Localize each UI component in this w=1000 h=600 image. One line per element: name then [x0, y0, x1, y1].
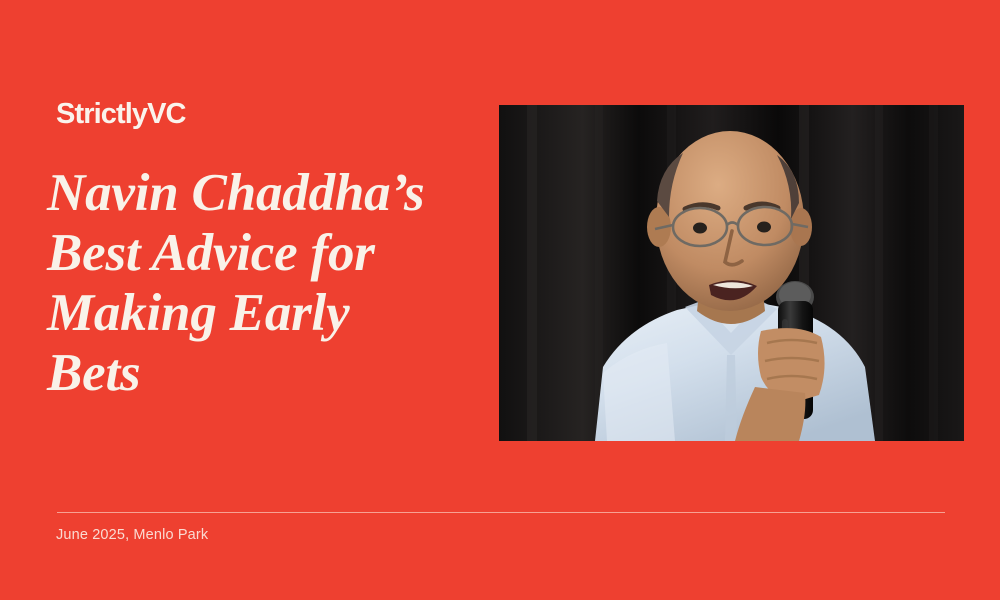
event-title-card: StrictlyVC Navin Chaddha’s Best Advice f… — [0, 0, 1000, 600]
event-meta: June 2025, Menlo Park — [56, 525, 208, 545]
page-title: Navin Chaddha’s Best Advice for Making E… — [47, 163, 477, 403]
eye-right — [757, 222, 771, 233]
headline-line-1: Navin Chaddha’s — [47, 163, 477, 223]
shirt-placket — [725, 355, 737, 441]
headline-line-3: Making Early — [47, 283, 477, 343]
headline-line-2: Best Advice for — [47, 223, 477, 283]
eye-left — [693, 223, 707, 234]
strictlyvc-logo: StrictlyVC — [56, 99, 186, 129]
headline-line-4: Bets — [47, 343, 477, 403]
speaker-photo-illustration — [499, 105, 964, 441]
speaker-photo — [499, 105, 964, 441]
footer-divider — [57, 512, 945, 513]
